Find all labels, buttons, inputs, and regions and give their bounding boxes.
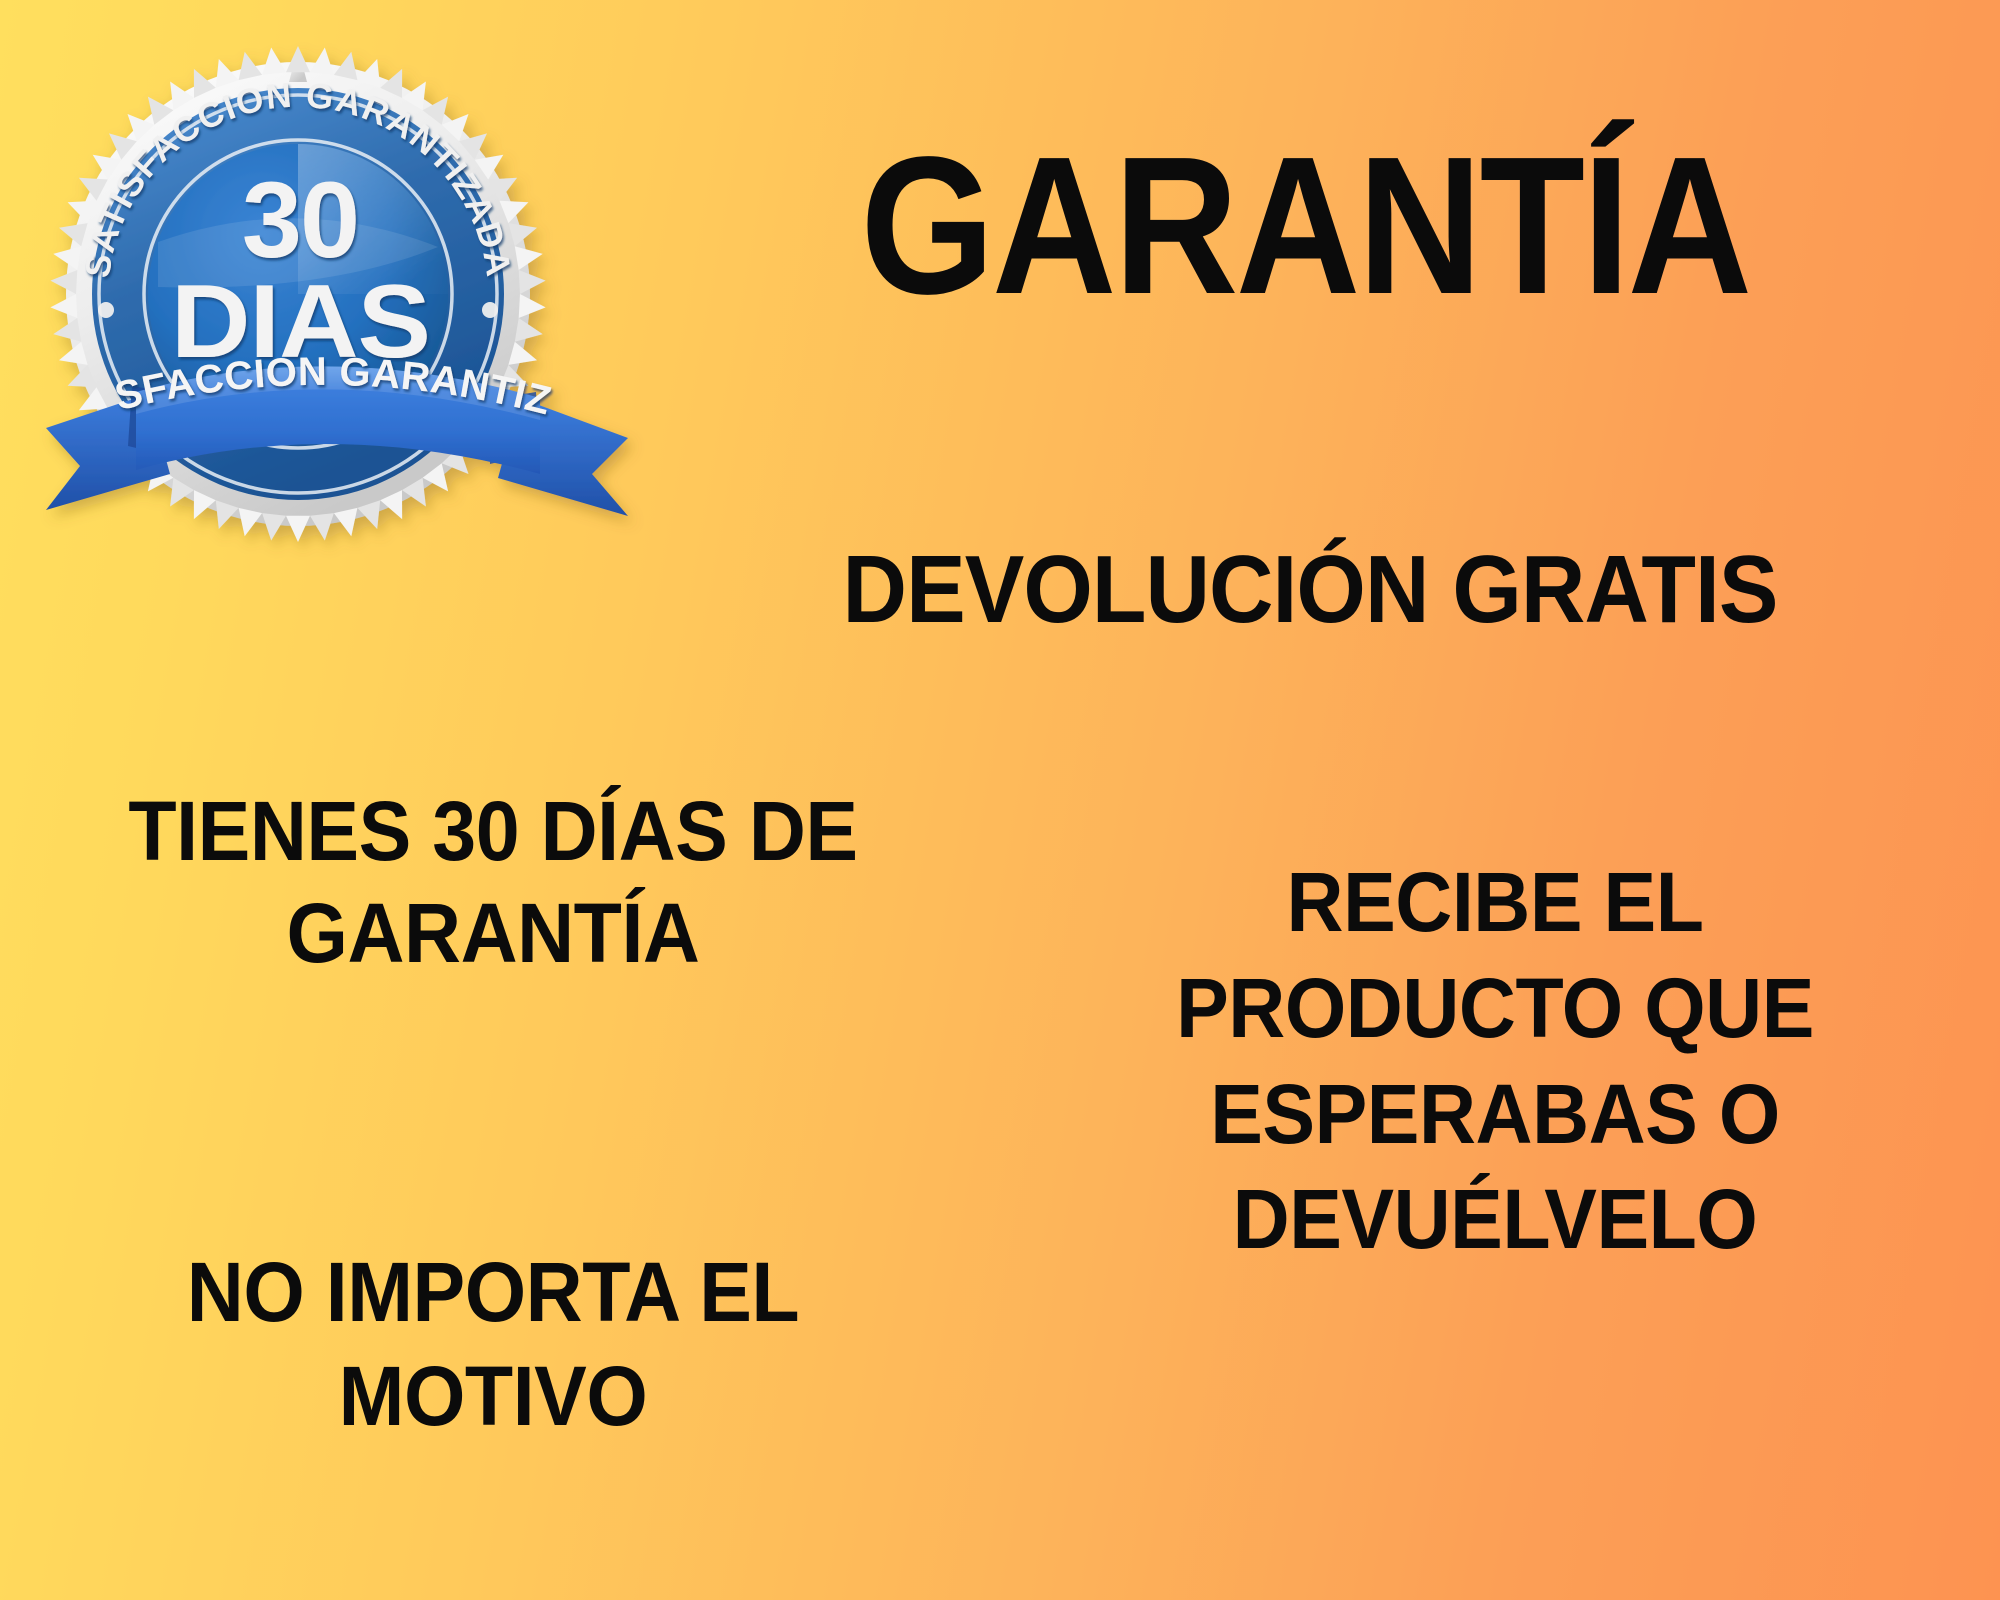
benefit-left-2: NO IMPORTA EL MOTIVO	[84, 1240, 902, 1448]
seal-days-number: 30	[242, 159, 358, 280]
guarantee-badge: SATISFACCION GARANTIZADA 30 DIAS	[28, 42, 648, 512]
benefit-right-1: RECIBE EL PRODUCTO QUE ESPERABAS O DEVUÉ…	[1053, 850, 1937, 1273]
seal-graphic: SATISFACCION GARANTIZADA 30 DIAS	[28, 42, 648, 512]
benefit-left-1: TIENES 30 DÍAS DE GARANTÍA	[84, 780, 902, 985]
page-title: GARANTÍA	[720, 128, 1890, 324]
guarantee-poster: SATISFACCION GARANTIZADA 30 DIAS	[0, 0, 2000, 1600]
headline-subtitle: DEVOLUCIÓN GRATIS	[687, 540, 1933, 640]
